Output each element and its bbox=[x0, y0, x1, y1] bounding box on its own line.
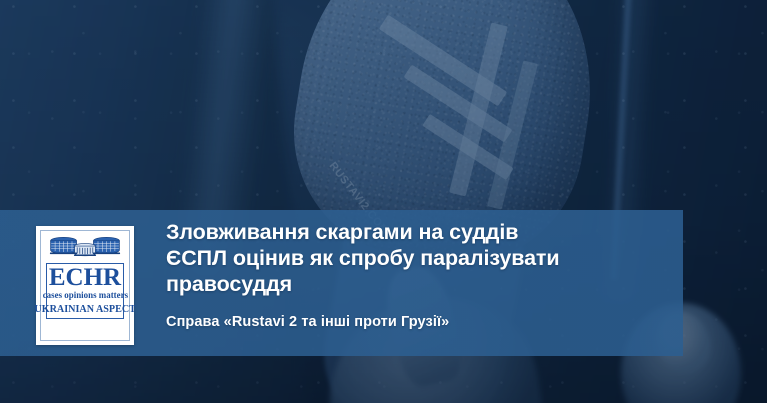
headline-line: правосуддя bbox=[166, 271, 671, 297]
logo-title: ECHR bbox=[49, 265, 121, 291]
subtitle-case-name: Справа «Rustavi 2 та інші проти Грузії» bbox=[166, 313, 671, 332]
news-banner: RUSTAVI2.COM bbox=[0, 0, 767, 403]
headline-line: ЄСПЛ оцінив як спробу паралізувати bbox=[166, 245, 671, 271]
logo-text-box: ECHR cases opinions matters UKRAINIAN AS… bbox=[46, 263, 124, 319]
echr-logo[interactable]: ECHR cases opinions matters UKRAINIAN AS… bbox=[36, 226, 134, 345]
logo-inner-frame: ECHR cases opinions matters UKRAINIAN AS… bbox=[40, 230, 130, 341]
headline-line: Зловживання скаргами на суддів bbox=[166, 219, 671, 245]
caption-text-block: Зловживання скаргами на суддів ЄСПЛ оцін… bbox=[166, 219, 671, 332]
headline: Зловживання скаргами на суддів ЄСПЛ оцін… bbox=[166, 219, 671, 297]
logo-aspect: UKRAINIAN ASPECT bbox=[34, 303, 136, 316]
echr-building-icon bbox=[46, 235, 124, 261]
logo-tagline: cases opinions matters bbox=[42, 291, 127, 302]
